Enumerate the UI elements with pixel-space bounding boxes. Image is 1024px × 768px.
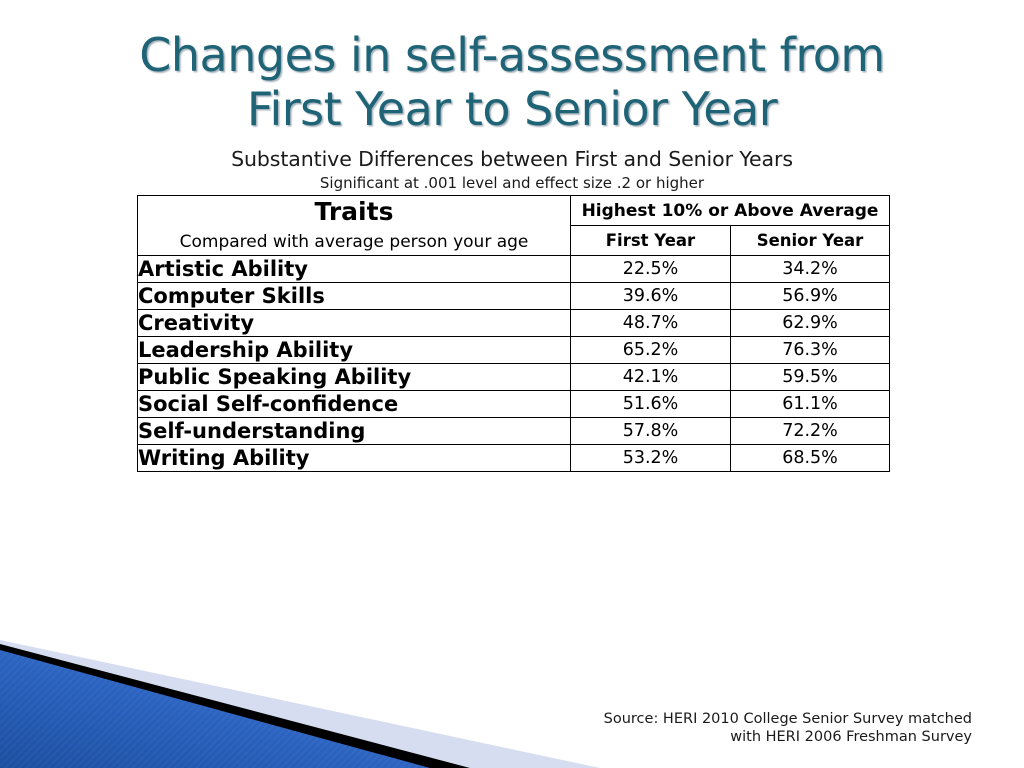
first-year-value-cell: 39.6% [571,283,731,310]
subtitle-secondary: Significant at .001 level and effect siz… [0,174,1024,192]
senior-year-value-cell: 56.9% [731,283,890,310]
corner-decoration [0,638,600,768]
trait-name-cell: Leadership Ability [138,337,571,364]
first-year-value-cell: 48.7% [571,310,731,337]
deco-band-blue-texture [0,650,430,768]
table-row: Computer Skills 39.6% 56.9% [138,283,890,310]
deco-band-black [0,644,470,768]
traits-header-title: Traits [138,196,570,227]
trait-name-cell: Public Speaking Ability [138,364,571,391]
group-header-cell: Highest 10% or Above Average [571,196,890,226]
first-year-value-cell: 57.8% [571,418,731,445]
table-row: Leadership Ability 65.2% 76.3% [138,337,890,364]
table-row: Social Self-confidence 51.6% 61.1% [138,391,890,418]
column-header-senior-year: Senior Year [731,226,890,256]
deco-band-lavender [0,640,600,768]
senior-year-value-cell: 62.9% [731,310,890,337]
table-row: Public Speaking Ability 42.1% 59.5% [138,364,890,391]
self-assessment-table: Traits Compared with average person your… [137,195,890,472]
table-row: Artistic Ability 22.5% 34.2% [138,256,890,283]
table-body: Artistic Ability 22.5% 34.2% Computer Sk… [138,256,890,472]
source-citation: Source: HERI 2010 College Senior Survey … [604,710,972,746]
table-row: Creativity 48.7% 62.9% [138,310,890,337]
senior-year-value-cell: 76.3% [731,337,890,364]
traits-header-subtitle: Compared with average person your age [138,229,570,255]
senior-year-value-cell: 68.5% [731,445,890,472]
first-year-value-cell: 22.5% [571,256,731,283]
page-title: Changes in self-assessment from First Ye… [0,28,1024,136]
table-header-row-group: Traits Compared with average person your… [138,196,890,226]
trait-name-cell: Computer Skills [138,283,571,310]
first-year-value-cell: 65.2% [571,337,731,364]
senior-year-value-cell: 72.2% [731,418,890,445]
table-header: Traits Compared with average person your… [138,196,890,256]
column-header-first-year: First Year [571,226,731,256]
first-year-value-cell: 51.6% [571,391,731,418]
senior-year-value-cell: 59.5% [731,364,890,391]
trait-name-cell: Self-understanding [138,418,571,445]
trait-name-cell: Writing Ability [138,445,571,472]
source-line-1: Source: HERI 2010 College Senior Survey … [604,710,972,728]
first-year-value-cell: 53.2% [571,445,731,472]
trait-name-cell: Artistic Ability [138,256,571,283]
source-line-2: with HERI 2006 Freshman Survey [604,728,972,746]
title-line-2: First Year to Senior Year [0,82,1024,136]
title-line-1: Changes in self-assessment from [0,28,1024,82]
table-row: Self-understanding 57.8% 72.2% [138,418,890,445]
traits-header-cell: Traits Compared with average person your… [138,196,571,256]
trait-name-cell: Social Self-confidence [138,391,571,418]
first-year-value-cell: 42.1% [571,364,731,391]
trait-name-cell: Creativity [138,310,571,337]
senior-year-value-cell: 34.2% [731,256,890,283]
senior-year-value-cell: 61.1% [731,391,890,418]
deco-band-blue [0,650,430,768]
subtitle-primary: Substantive Differences between First an… [0,147,1024,171]
table-row: Writing Ability 53.2% 68.5% [138,445,890,472]
